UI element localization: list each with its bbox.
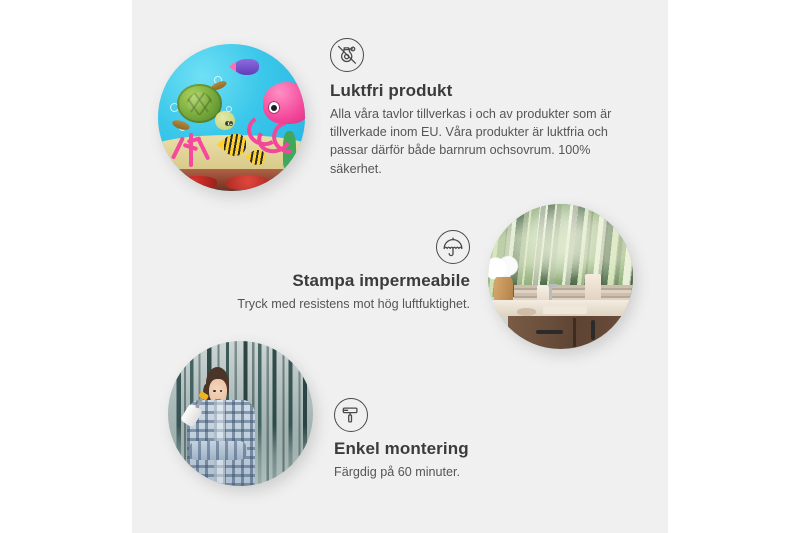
ocean-scene	[158, 44, 305, 191]
paint-roller-icon	[334, 398, 368, 432]
eye	[213, 390, 216, 392]
image-bathroom-tropical-wallpaper	[488, 204, 633, 349]
feature-waterproof-print: Stampa impermeabile Tryck med resistens …	[195, 230, 470, 313]
sink-basin	[543, 306, 587, 315]
yellow-fish	[249, 150, 265, 165]
umbrella-icon	[436, 230, 470, 264]
wooden-vanity-cabinet	[508, 316, 633, 349]
feature-title: Stampa impermeabile	[195, 271, 470, 291]
pink-octopus	[246, 82, 305, 150]
soap-dish	[517, 308, 536, 315]
eye	[220, 390, 223, 392]
cabinet-handle	[591, 320, 595, 340]
bathroom-scene	[488, 204, 633, 349]
image-ocean-kids-mural	[158, 44, 305, 191]
feature-odour-free: Luktfri produkt Alla våra tavlor tillver…	[330, 38, 620, 178]
octopus-eye	[268, 101, 280, 114]
perfume-bottle-no-odour-icon	[330, 38, 364, 72]
turtle-eye	[229, 121, 233, 126]
infographic-canvas: Luktfri produkt Alla våra tavlor tillver…	[0, 0, 800, 533]
ocean-floor	[158, 169, 305, 191]
yellow-fish	[223, 134, 247, 156]
feature-title: Luktfri produkt	[330, 81, 620, 101]
octopus-body	[263, 82, 305, 124]
painter-woman	[183, 367, 261, 486]
sea-turtle	[177, 84, 236, 133]
feature-title: Enkel montering	[334, 439, 614, 459]
drawer-handle	[536, 330, 563, 334]
forest-scene	[168, 341, 313, 486]
feature-easy-mounting: Enkel montering Färgdig på 60 minuter.	[334, 398, 614, 481]
purple-fish	[234, 59, 259, 75]
feature-description: Alla våra tavlor tillverkas i och av pro…	[330, 105, 620, 178]
image-painter-forest-wallpaper	[168, 341, 313, 486]
turtle-head	[215, 111, 235, 130]
feature-description: Färgdig på 60 minuter.	[334, 463, 614, 481]
crossed-arms	[189, 441, 247, 460]
feature-description: Tryck med resistens mot hög luftfuktighe…	[195, 295, 470, 313]
